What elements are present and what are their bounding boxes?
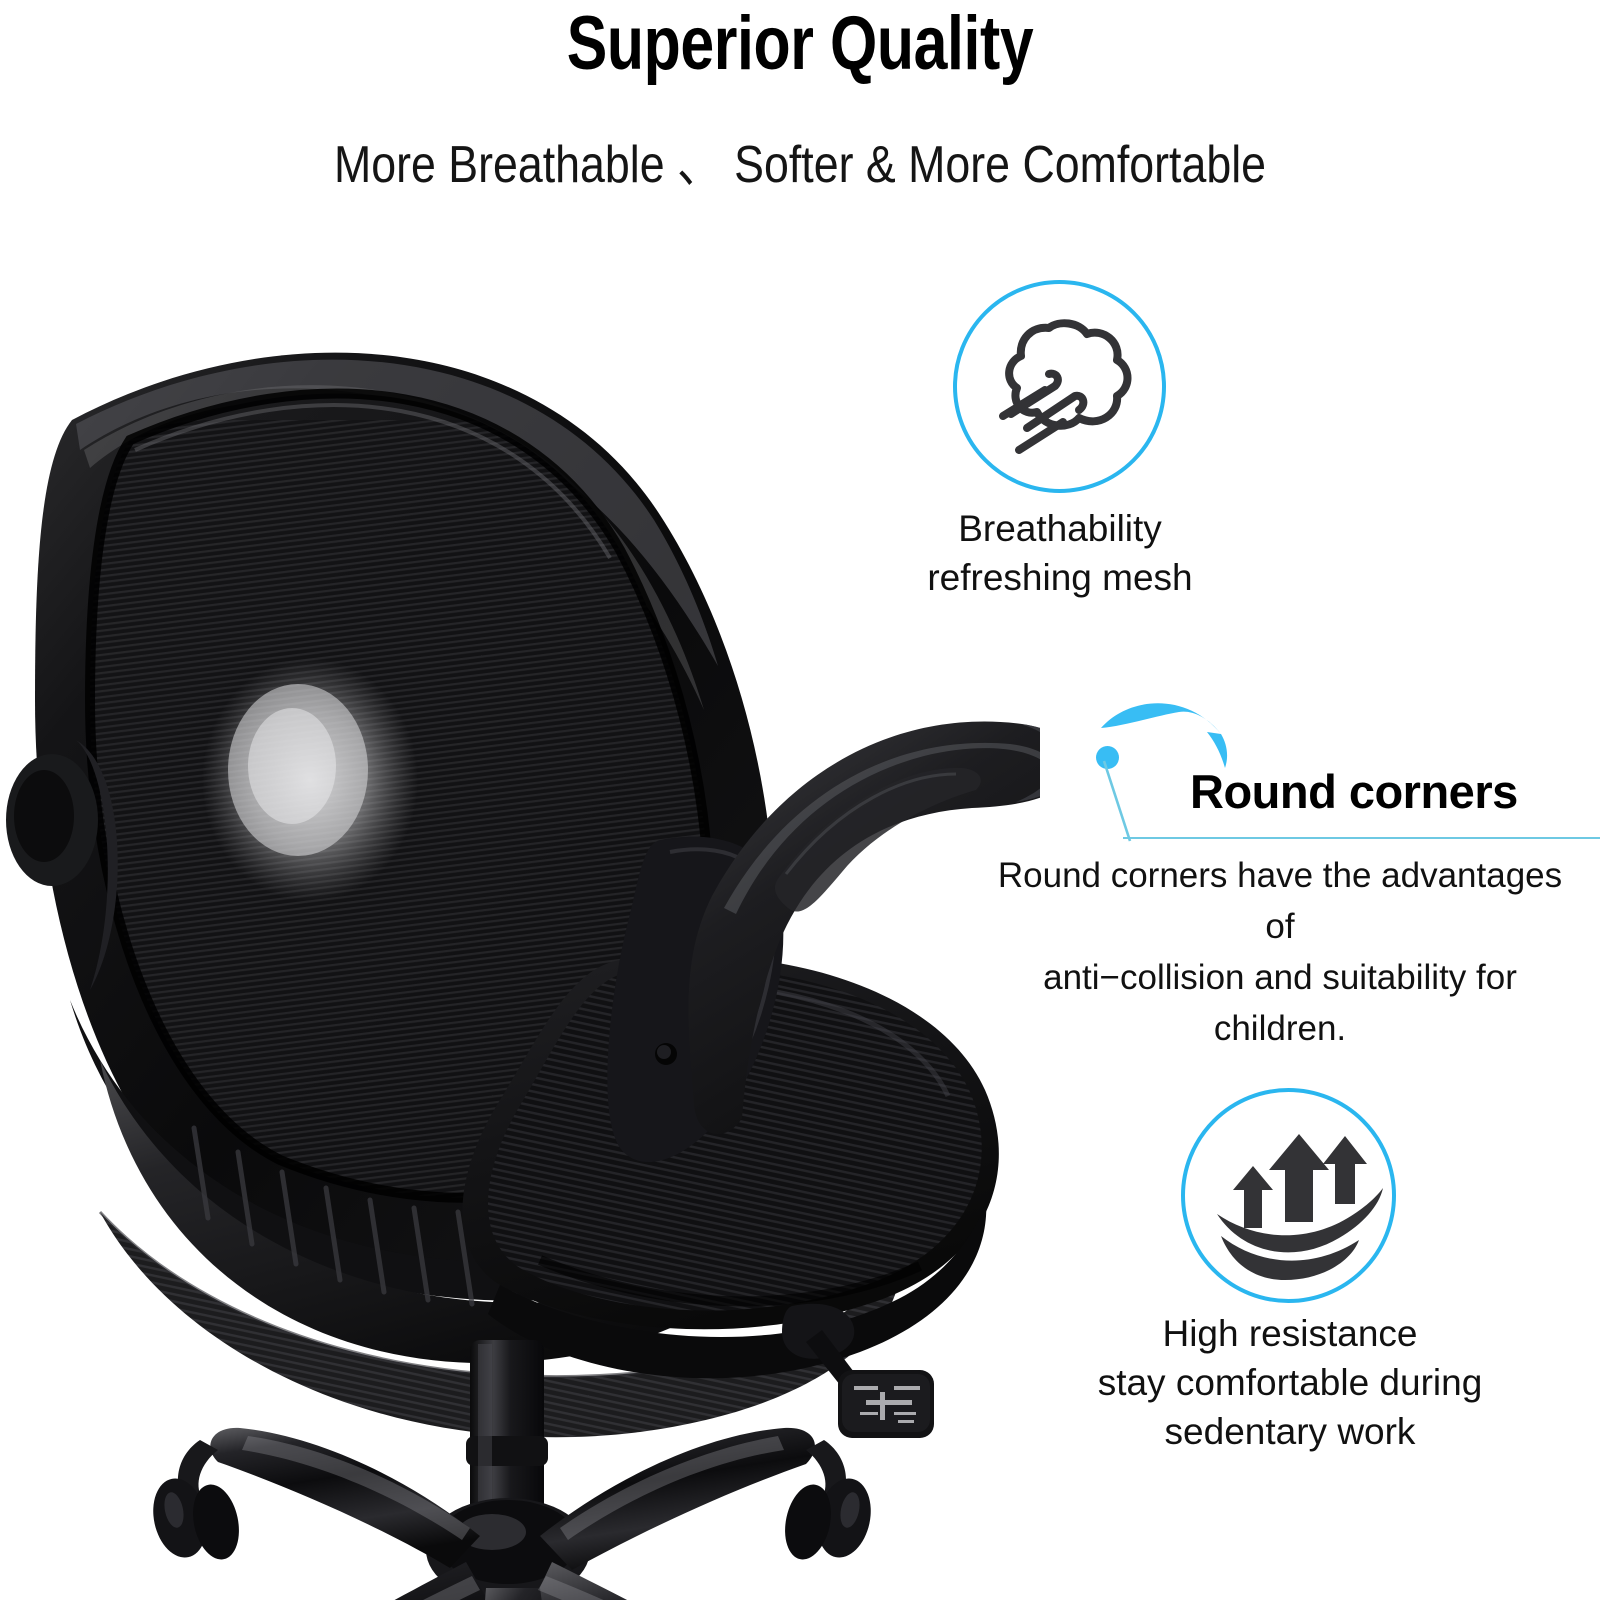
- wind-cloud-icon: [953, 280, 1166, 493]
- base-arm: [532, 1562, 959, 1600]
- callout-body: Round corners have the advantages of ant…: [980, 850, 1580, 1054]
- warning-tag: [838, 1370, 934, 1438]
- arrows-smile-icon: [1181, 1088, 1396, 1303]
- high-resistance-caption: High resistance stay comfortable during …: [1030, 1310, 1550, 1456]
- page-subtitle: More Breathable 、 Softer & More Comforta…: [112, 122, 1488, 197]
- product-feature-graphic: Superior Quality More Breathable 、 Softe…: [0, 0, 1600, 1600]
- breathability-caption: Breathability refreshing mesh: [830, 505, 1290, 603]
- callout-title: Round corners: [1190, 764, 1590, 819]
- page-title: Superior Quality: [160, 4, 1440, 84]
- callout-underline: [1123, 837, 1600, 839]
- base-arm: [80, 1562, 490, 1600]
- product-image-office-chair: [0, 300, 1040, 1600]
